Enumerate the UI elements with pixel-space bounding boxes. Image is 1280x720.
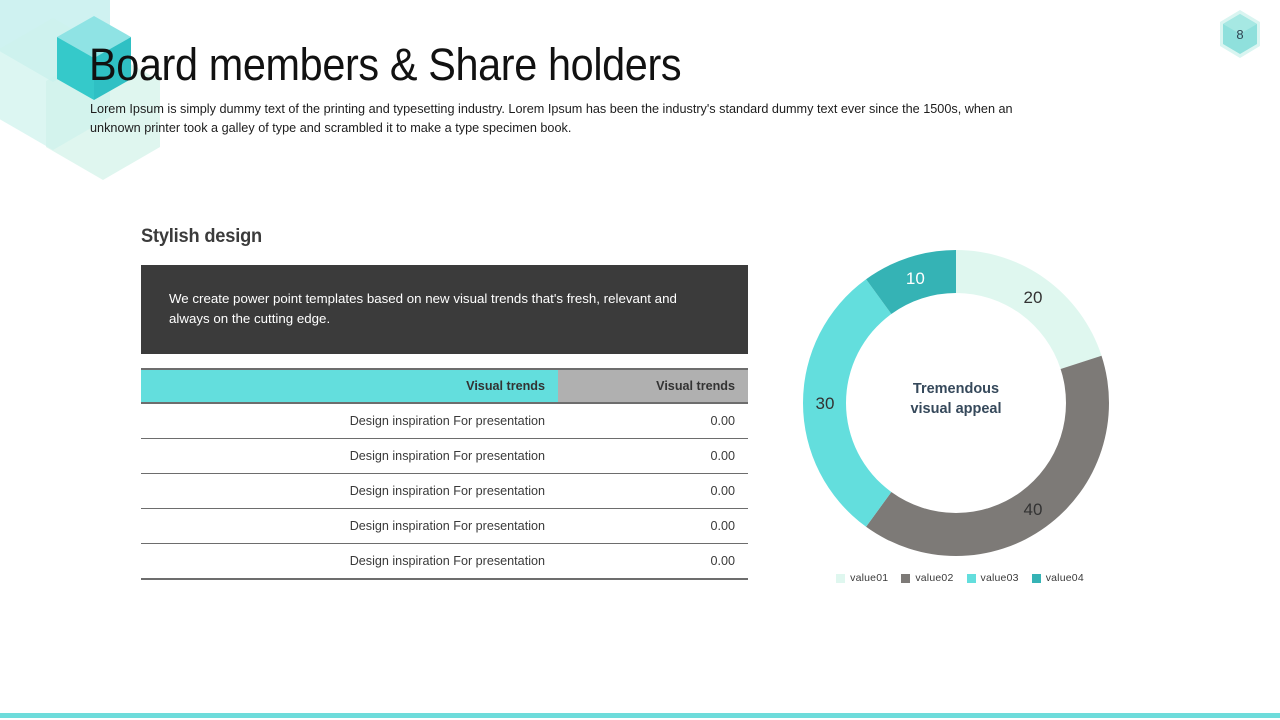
table-row[interactable]: Design inspiration For presentation 0.00	[141, 439, 748, 474]
table-cell-label: Design inspiration For presentation	[141, 439, 558, 474]
legend-item-value03[interactable]: value03	[967, 572, 1019, 584]
legend-swatch-value03	[967, 574, 976, 583]
table-row[interactable]: Design inspiration For presentation 0.00	[141, 474, 748, 509]
table-cell-value: 0.00	[558, 474, 748, 509]
table-cell-value: 0.00	[558, 439, 748, 474]
chart-legend: value01 value02 value03 value04	[780, 572, 1140, 584]
legend-label-value04: value04	[1046, 572, 1084, 584]
donut-data-label-value03: 30	[816, 394, 835, 413]
donut-data-label-value01: 20	[1024, 288, 1043, 307]
table-cell-value: 0.00	[558, 509, 748, 544]
left-content-panel: Stylish design We create power point tem…	[141, 226, 748, 580]
table-row[interactable]: Design inspiration For presentation 0.00	[141, 509, 748, 544]
table-cell-label: Design inspiration For presentation	[141, 544, 558, 580]
donut-center-label-line1: Tremendous	[913, 381, 999, 397]
table-cell-value: 0.00	[558, 403, 748, 439]
legend-label-value03: value03	[981, 572, 1019, 584]
page-number-text: 8	[1208, 2, 1272, 66]
page-title: Board members & Share holders	[89, 38, 681, 92]
page-number-badge: 8	[1208, 2, 1272, 66]
legend-swatch-value02	[901, 574, 910, 583]
page-subtitle: Lorem Ipsum is simply dummy text of the …	[90, 99, 1021, 137]
table-cell-label: Design inspiration For presentation	[141, 403, 558, 439]
data-table: Visual trends Visual trends Design inspi…	[141, 368, 748, 580]
legend-swatch-value01	[836, 574, 845, 583]
section-heading: Stylish design	[141, 226, 724, 248]
table-row[interactable]: Design inspiration For presentation 0.00	[141, 403, 748, 439]
table-header-cell-2[interactable]: Visual trends	[558, 369, 748, 403]
table-header-row: Visual trends Visual trends	[141, 369, 748, 403]
legend-item-value02[interactable]: value02	[901, 572, 953, 584]
bottom-accent-bar	[0, 713, 1280, 718]
legend-swatch-value04	[1032, 574, 1041, 583]
callout-box: We create power point templates based on…	[141, 265, 748, 354]
donut-center-label-line2: visual appeal	[910, 401, 1001, 417]
donut-chart-svg: 20403010 Tremendous visual appeal	[780, 238, 1140, 598]
donut-data-label-value04: 10	[906, 269, 925, 288]
legend-label-value02: value02	[915, 572, 953, 584]
donut-chart: 20403010 Tremendous visual appeal	[780, 238, 1140, 598]
table-row[interactable]: Design inspiration For presentation 0.00	[141, 544, 748, 580]
donut-data-label-value02: 40	[1024, 500, 1043, 519]
donut-slice-value01[interactable]	[956, 250, 1102, 369]
legend-item-value04[interactable]: value04	[1032, 572, 1084, 584]
table-cell-label: Design inspiration For presentation	[141, 509, 558, 544]
table-cell-label: Design inspiration For presentation	[141, 474, 558, 509]
slide-canvas: 8 Board members & Share holders Lorem Ip…	[0, 0, 1280, 720]
legend-item-value01[interactable]: value01	[836, 572, 888, 584]
table-cell-value: 0.00	[558, 544, 748, 580]
table-header-cell-1[interactable]: Visual trends	[141, 369, 558, 403]
legend-label-value01: value01	[850, 572, 888, 584]
